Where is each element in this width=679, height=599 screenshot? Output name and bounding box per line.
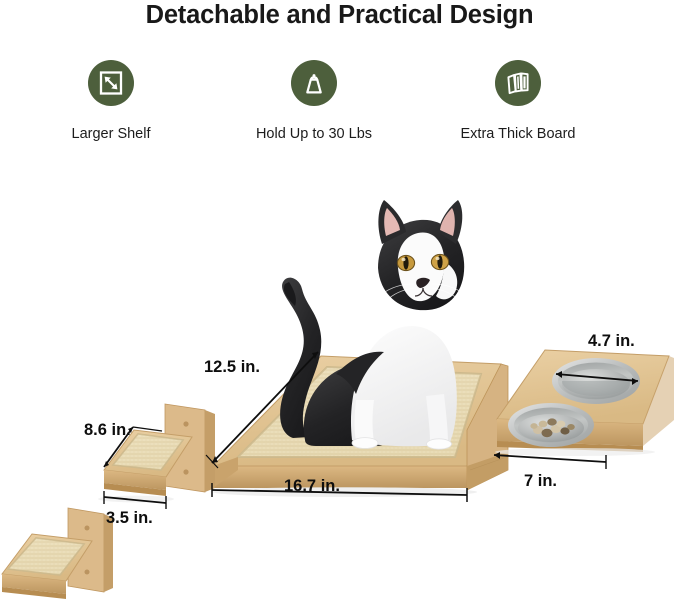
feature-label: Extra Thick Board [428,126,608,142]
feature-weight-capacity: Hold Up to 30 Lbs [224,60,404,142]
kibble [530,418,574,437]
main-shelf [213,356,501,497]
bowl-with-food [508,403,594,447]
resize-arrows-icon [88,60,134,106]
feature-label: Hold Up to 30 Lbs [224,126,404,142]
feature-label: Larger Shelf [21,126,201,142]
dimension-lines [104,352,638,509]
feature-thick-board: Extra Thick Board [428,60,608,142]
step-shelf-lower [2,508,113,599]
dimension-main-shelf-width: 16.7 in. [284,477,340,496]
feature-larger-shelf: Larger Shelf [21,60,201,142]
weight-icon [291,60,337,106]
main-shelf-bracket [467,364,508,490]
bowl-feeder [495,350,674,456]
feature-row: Larger Shelf Hold Up to 30 Lbs [0,60,679,155]
dimension-main-shelf-depth: 12.5 in. [204,358,260,377]
dimension-step-shelf-depth: 8.6 in. [84,421,131,440]
cat [280,200,464,449]
dimension-feeder-width: 7 in. [524,472,557,491]
bowl-empty [552,358,640,404]
dimension-bowl-diameter: 4.7 in. [588,332,635,351]
step-shelf-upper [98,404,215,502]
product-feature-image: Detachable and Practical Design Larger S… [0,0,679,599]
page-title: Detachable and Practical Design [0,0,679,30]
dimension-step-shelf-width: 3.5 in. [106,509,153,528]
stacked-boards-icon [495,60,541,106]
